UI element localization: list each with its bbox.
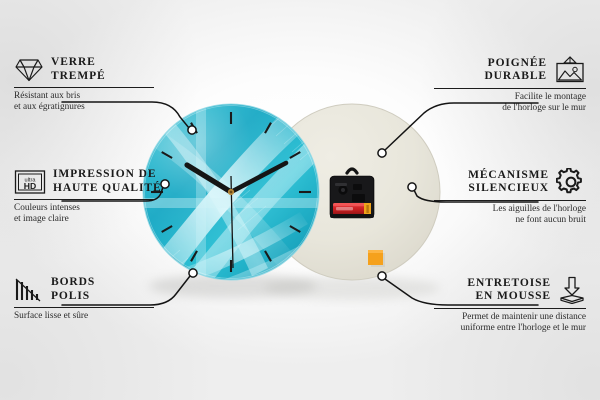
feature-description: Résistant aux bris et aux égratignures <box>14 91 166 113</box>
feature-title: BORDS POLIS <box>51 276 95 303</box>
feature-title: MÉCANISME SILENCIEUX <box>468 169 549 196</box>
feature-divider <box>14 307 154 308</box>
gear-icon <box>556 168 586 196</box>
wall-hanger-picture-icon <box>554 56 586 84</box>
feature-divider <box>434 308 586 309</box>
feature-description: Couleurs intenses et image claire <box>14 203 166 225</box>
feature-mecanisme-silencieux: MÉCANISME SILENCIEUX Les aiguilles de l'… <box>434 168 586 226</box>
connector-dot-verre <box>188 126 196 134</box>
connector-dot-poignee <box>378 149 386 157</box>
feature-impression-haute-qualite: ultra HD IMPRESSION DE HAUTE QUALITÉ Cou… <box>14 168 166 225</box>
feature-divider <box>14 87 154 88</box>
feature-title: ENTRETOISE EN MOUSSE <box>467 277 551 304</box>
feature-header: BORDS POLIS <box>14 276 166 303</box>
feature-description: Les aiguilles de l'horloge ne font aucun… <box>434 204 586 226</box>
feature-entretoise-en-mousse: ENTRETOISE EN MOUSSE Permet de maintenir… <box>434 276 586 334</box>
feature-divider <box>434 200 586 201</box>
polished-edges-icon <box>14 277 44 303</box>
feature-description: Facilite le montage de l'horloge sur le … <box>434 92 586 114</box>
feature-divider <box>434 88 586 89</box>
connector-dot-entretoise <box>378 272 386 280</box>
feature-description: Surface lisse et sûre <box>14 311 166 322</box>
feature-description: Permet de maintenir une distance uniform… <box>434 312 586 334</box>
feature-poignee-durable: POIGNÉE DURABLE Facilite le montage de l… <box>434 56 586 114</box>
feature-header: POIGNÉE DURABLE <box>434 56 586 84</box>
feature-verre-trempe: VERRE TREMPÉ Résistant aux bris et aux é… <box>14 56 166 113</box>
ultra-hd-icon: ultra HD <box>14 169 46 195</box>
feature-header: ultra HD IMPRESSION DE HAUTE QUALITÉ <box>14 168 166 195</box>
svg-text:HD: HD <box>24 181 36 191</box>
foam-spacer-arrow-icon <box>558 276 586 304</box>
feature-title: VERRE TREMPÉ <box>51 56 106 83</box>
connector-dot-bords <box>189 269 197 277</box>
feature-header: MÉCANISME SILENCIEUX <box>434 168 586 196</box>
infographic-canvas: VERRE TREMPÉ Résistant aux bris et aux é… <box>0 0 600 400</box>
feature-header: ENTRETOISE EN MOUSSE <box>434 276 586 304</box>
feature-divider <box>14 199 154 200</box>
feature-title: POIGNÉE DURABLE <box>484 57 547 84</box>
diamond-icon <box>14 57 44 83</box>
feature-bords-polis: BORDS POLIS Surface lisse et sûre <box>14 276 166 322</box>
feature-title: IMPRESSION DE HAUTE QUALITÉ <box>53 168 162 195</box>
feature-header: VERRE TREMPÉ <box>14 56 166 83</box>
connector-dot-mecanisme <box>408 183 416 191</box>
